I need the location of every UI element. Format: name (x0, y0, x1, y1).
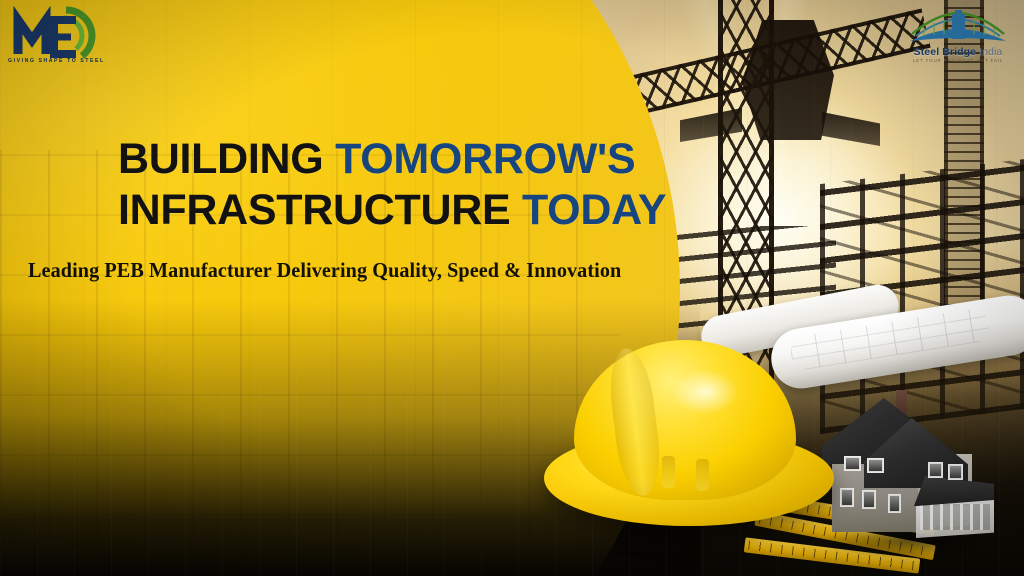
hard-hat (544, 330, 844, 560)
logo-right-name: Steel Bridge India (906, 46, 1010, 58)
house-window (862, 490, 876, 509)
subheadline: Leading PEB Manufacturer Delivering Qual… (28, 258, 700, 283)
headline-line2: INFRASTRUCTURE TODAY (118, 185, 738, 236)
headline-line2-accent: TODAY (522, 186, 666, 234)
house-porch-railing (916, 500, 994, 538)
me-monogram-icon (8, 6, 112, 62)
hard-hat-highlight (672, 370, 738, 414)
company-logo-left[interactable]: GIVING SHAPE TO STEEL (8, 6, 112, 72)
house-window (928, 462, 943, 478)
company-logo-right[interactable]: Steel Bridge India LET YOUR PROJECTS NOT… (906, 8, 1010, 70)
hard-hat-slot (696, 459, 709, 491)
headline-line1-plain: BUILDING (118, 135, 335, 183)
house-window (867, 458, 884, 473)
model-house (822, 384, 1000, 566)
hard-hat-dome (574, 340, 796, 500)
hero-banner: GIVING SHAPE TO STEEL Steel Bridge India… (0, 0, 1024, 576)
logo-right-tagline: LET YOUR PROJECTS NOT FAIL (906, 58, 1010, 63)
headline-line1-accent: TOMORROW'S (335, 135, 635, 183)
logo-right-name-light: India (976, 46, 1002, 58)
house-window (844, 456, 861, 471)
house-window (948, 464, 963, 480)
headline-line2-plain: INFRASTRUCTURE (118, 186, 522, 234)
bridge-icon (906, 8, 1010, 48)
logo-left-tagline: GIVING SHAPE TO STEEL (8, 58, 112, 64)
logo-right-name-bold: Steel Bridge (914, 46, 976, 58)
headline: BUILDING TOMORROW'S INFRASTRUCTURE TODAY (118, 134, 738, 235)
house-window (888, 494, 901, 513)
hard-hat-slot (662, 456, 675, 488)
